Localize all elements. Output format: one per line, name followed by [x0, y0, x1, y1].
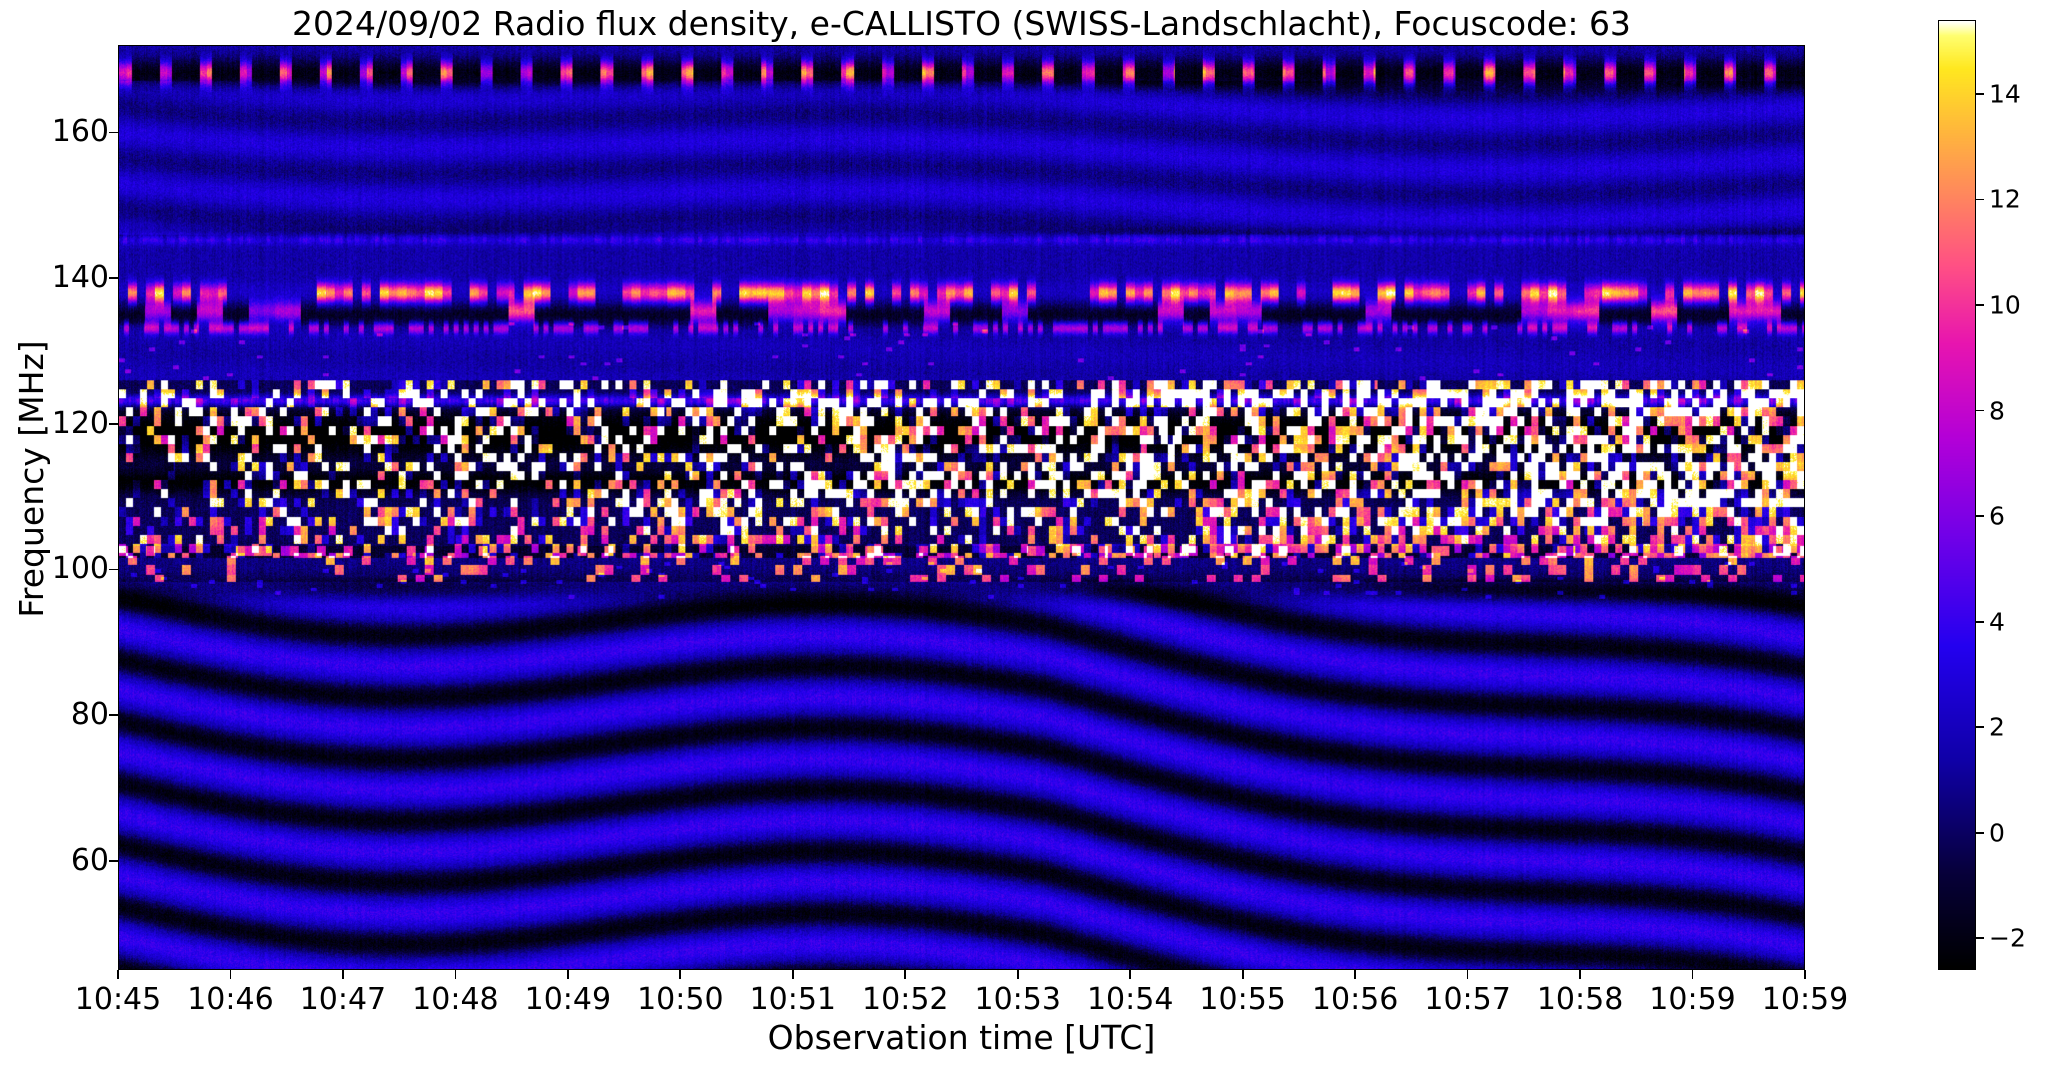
x-tick-mark	[1467, 970, 1469, 979]
colorbar-tick-mark	[1976, 199, 1984, 201]
y-tick-label: 80	[71, 700, 109, 730]
x-tick-mark	[117, 970, 119, 979]
x-tick-mark	[1579, 970, 1581, 979]
colorbar-tick-label: 6	[1989, 504, 2005, 529]
x-tick-mark	[1354, 970, 1356, 979]
y-tick-mark	[109, 423, 118, 425]
x-tick-label: 10:47	[300, 984, 386, 1016]
x-tick-mark	[342, 970, 344, 979]
x-tick-mark	[230, 970, 232, 979]
x-axis-label: Observation time [UTC]	[118, 1020, 1805, 1056]
colorbar-tick-mark	[1976, 937, 1984, 939]
x-tick-mark	[1804, 970, 1806, 979]
spectrogram-axes[interactable]	[118, 45, 1805, 970]
colorbar-tick-mark	[1976, 410, 1984, 412]
x-tick-mark	[1692, 970, 1694, 979]
y-tick-label: 160	[52, 117, 109, 147]
y-tick-label: 120	[52, 409, 109, 439]
x-tick-mark	[1017, 970, 1019, 979]
colorbar-tick-mark	[1976, 726, 1984, 728]
x-tick-mark	[455, 970, 457, 979]
x-tick-label: 10:49	[525, 984, 611, 1016]
x-tick-label: 10:59	[1762, 984, 1848, 1016]
x-tick-mark	[567, 970, 569, 979]
y-tick-mark	[109, 860, 118, 862]
x-tick-mark	[1242, 970, 1244, 979]
colorbar-tick-label: 2	[1989, 715, 2005, 740]
figure-title: 2024/09/02 Radio flux density, e-CALLIST…	[118, 6, 1805, 42]
x-tick-mark	[904, 970, 906, 979]
x-tick-label: 10:56	[1312, 984, 1398, 1016]
spectrogram-image	[119, 46, 1804, 969]
colorbar-tick-label: −2	[1989, 926, 2026, 951]
colorbar-tick-label: 10	[1989, 293, 2021, 318]
colorbar[interactable]	[1938, 20, 1976, 970]
colorbar-tick-mark	[1976, 515, 1984, 517]
y-axis-label: Frequency [MHz]	[15, 269, 49, 689]
y-tick-mark	[109, 277, 118, 279]
x-tick-mark	[792, 970, 794, 979]
x-tick-label: 10:51	[750, 984, 836, 1016]
x-tick-label: 10:50	[637, 984, 723, 1016]
y-tick-label: 60	[71, 846, 109, 876]
y-tick-mark	[109, 569, 118, 571]
y-tick-label: 100	[52, 554, 109, 584]
colorbar-tick-label: 8	[1989, 398, 2005, 423]
colorbar-gradient	[1939, 21, 1975, 969]
x-tick-label: 10:54	[1087, 984, 1173, 1016]
colorbar-tick-mark	[1976, 93, 1984, 95]
x-tick-label: 10:46	[187, 984, 273, 1016]
colorbar-tick-label: 12	[1989, 187, 2021, 212]
x-tick-label: 10:59	[1649, 984, 1735, 1016]
colorbar-tick-mark	[1976, 304, 1984, 306]
y-tick-mark	[109, 132, 118, 134]
x-tick-label: 10:48	[412, 984, 498, 1016]
x-tick-label: 10:45	[75, 984, 161, 1016]
x-tick-mark	[679, 970, 681, 979]
colorbar-tick-label: 0	[1989, 820, 2005, 845]
colorbar-tick-mark	[1976, 621, 1984, 623]
x-tick-label: 10:55	[1199, 984, 1285, 1016]
x-tick-label: 10:57	[1424, 984, 1510, 1016]
x-tick-label: 10:58	[1537, 984, 1623, 1016]
x-tick-label: 10:52	[862, 984, 948, 1016]
x-tick-mark	[1129, 970, 1131, 979]
spectrogram-figure: 2024/09/02 Radio flux density, e-CALLIST…	[0, 0, 2066, 1067]
y-tick-mark	[109, 714, 118, 716]
colorbar-tick-label: 4	[1989, 609, 2005, 634]
colorbar-tick-mark	[1976, 832, 1984, 834]
colorbar-tick-label: 14	[1989, 81, 2021, 106]
x-tick-label: 10:53	[974, 984, 1060, 1016]
y-tick-label: 140	[52, 263, 109, 293]
